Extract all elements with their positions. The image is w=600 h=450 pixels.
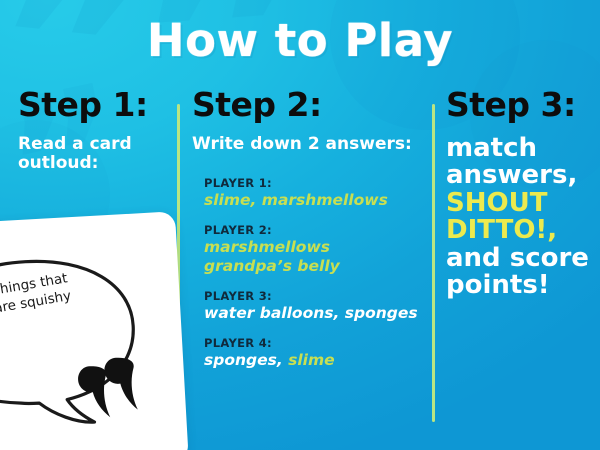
player-answer-part: sponges, — [204, 351, 283, 369]
player-label: PLAYER 1: — [204, 176, 424, 190]
step-2-column: Step 2: Write down 2 answers: PLAYER 1: … — [192, 88, 424, 384]
step-3-line-1: match — [446, 133, 537, 163]
step-1-subtitle: Read a card outloud: — [18, 135, 168, 174]
shout-line-1: SHOUT — [446, 190, 596, 218]
player-label: PLAYER 4: — [204, 336, 424, 350]
player-answer: water balloons, sponges — [204, 304, 424, 322]
step-1-column: Step 1: Read a card outloud: — [18, 88, 168, 174]
speech-bubble: Things that are squishy — [0, 211, 189, 450]
step-3-heading: Step 3: — [446, 88, 596, 123]
step-1-heading: Step 1: — [18, 88, 168, 123]
step-3-line-3: and score — [446, 243, 589, 273]
step-3-line-4: points! — [446, 270, 550, 300]
step-3-line-2: answers, — [446, 160, 577, 190]
step-3-column: Step 3: match answers, SHOUT DITTO!, and… — [446, 88, 596, 300]
player-label: PLAYER 2: — [204, 223, 424, 237]
column-divider-2 — [432, 104, 435, 422]
player-label: PLAYER 3: — [204, 289, 424, 303]
page-title: How to Play — [0, 14, 600, 67]
list-item: PLAYER 1: slime, marshmellows — [204, 176, 424, 209]
step-2-heading: Step 2: — [192, 88, 424, 123]
player-answer: marshmellows — [204, 238, 424, 256]
player-answer: slime, marshmellows — [204, 191, 424, 209]
speech-bubble-icon — [0, 211, 189, 450]
shout-line-2: DITTO!, — [446, 217, 596, 245]
list-item: PLAYER 2: marshmellows grandpa’s belly — [204, 223, 424, 275]
list-item: PLAYER 3: water balloons, sponges — [204, 289, 424, 322]
player-answer: grandpa’s belly — [204, 257, 424, 275]
step-3-body: match answers, SHOUT DITTO!, and score p… — [446, 135, 596, 300]
prompt-card[interactable]: Things that are squishy — [0, 211, 189, 450]
how-to-play-poster: ” ” ” How to Play Step 1: Read a card ou… — [0, 0, 600, 450]
step-2-subtitle: Write down 2 answers: — [192, 135, 424, 155]
list-item: PLAYER 4: sponges, slime — [204, 336, 424, 369]
player-answer: sponges, slime — [204, 351, 424, 369]
player-answer-part: slime — [288, 351, 335, 369]
player-answer-list: PLAYER 1: slime, marshmellows PLAYER 2: … — [192, 176, 424, 369]
